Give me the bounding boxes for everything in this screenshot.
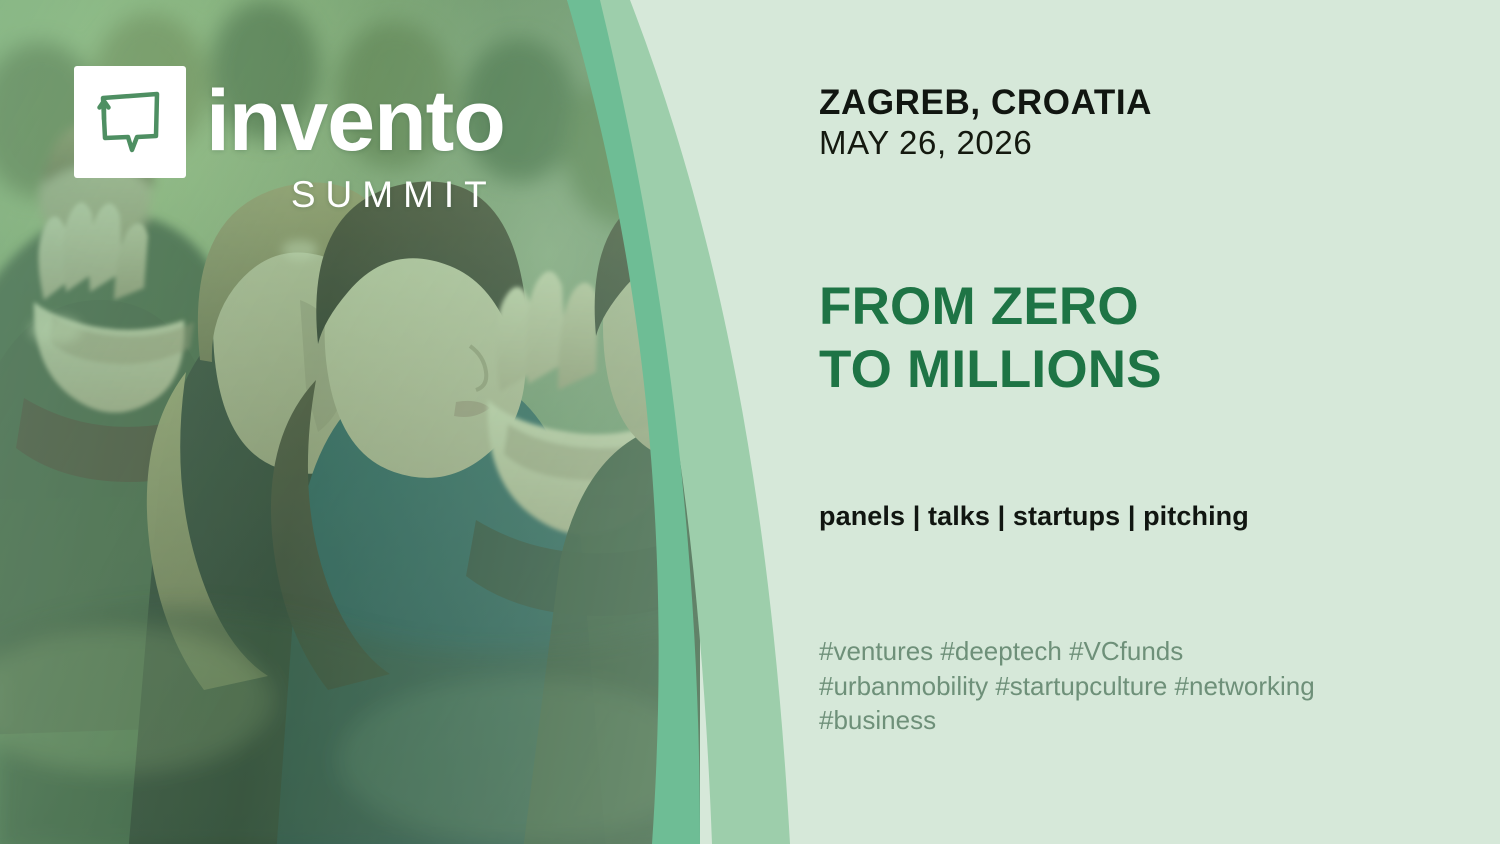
event-banner: invento SUMMIT ZAGREB, CROATIA MAY 26, 2…: [0, 0, 1500, 844]
logo-wordmark: invento: [206, 81, 505, 163]
location-date-block: ZAGREB, CROATIA MAY 26, 2026: [819, 82, 1152, 164]
event-date: MAY 26, 2026: [819, 123, 1152, 163]
hashtag-line-1: #ventures #deeptech #VCfunds: [819, 634, 1379, 669]
event-location: ZAGREB, CROATIA: [819, 82, 1152, 123]
hashtag-list: #ventures #deeptech #VCfunds #urbanmobil…: [819, 634, 1379, 738]
hashtag-line-3: #business: [819, 703, 1379, 738]
hashtag-line-2: #urbanmobility #startupculture #networki…: [819, 669, 1379, 704]
event-details: ZAGREB, CROATIA MAY 26, 2026 FROM ZERO T…: [819, 0, 1459, 844]
page-title: FROM ZERO TO MILLIONS: [819, 276, 1162, 401]
headline-line-1: FROM ZERO: [819, 276, 1162, 339]
speech-bubble-arrow-icon: [74, 66, 186, 178]
brand-logo[interactable]: invento SUMMIT: [74, 66, 505, 216]
program-formats: panels | talks | startups | pitching: [819, 501, 1249, 532]
logo-subtitle: SUMMIT: [291, 174, 497, 216]
headline-line-2: TO MILLIONS: [819, 339, 1162, 402]
logo-row: invento: [74, 66, 505, 178]
